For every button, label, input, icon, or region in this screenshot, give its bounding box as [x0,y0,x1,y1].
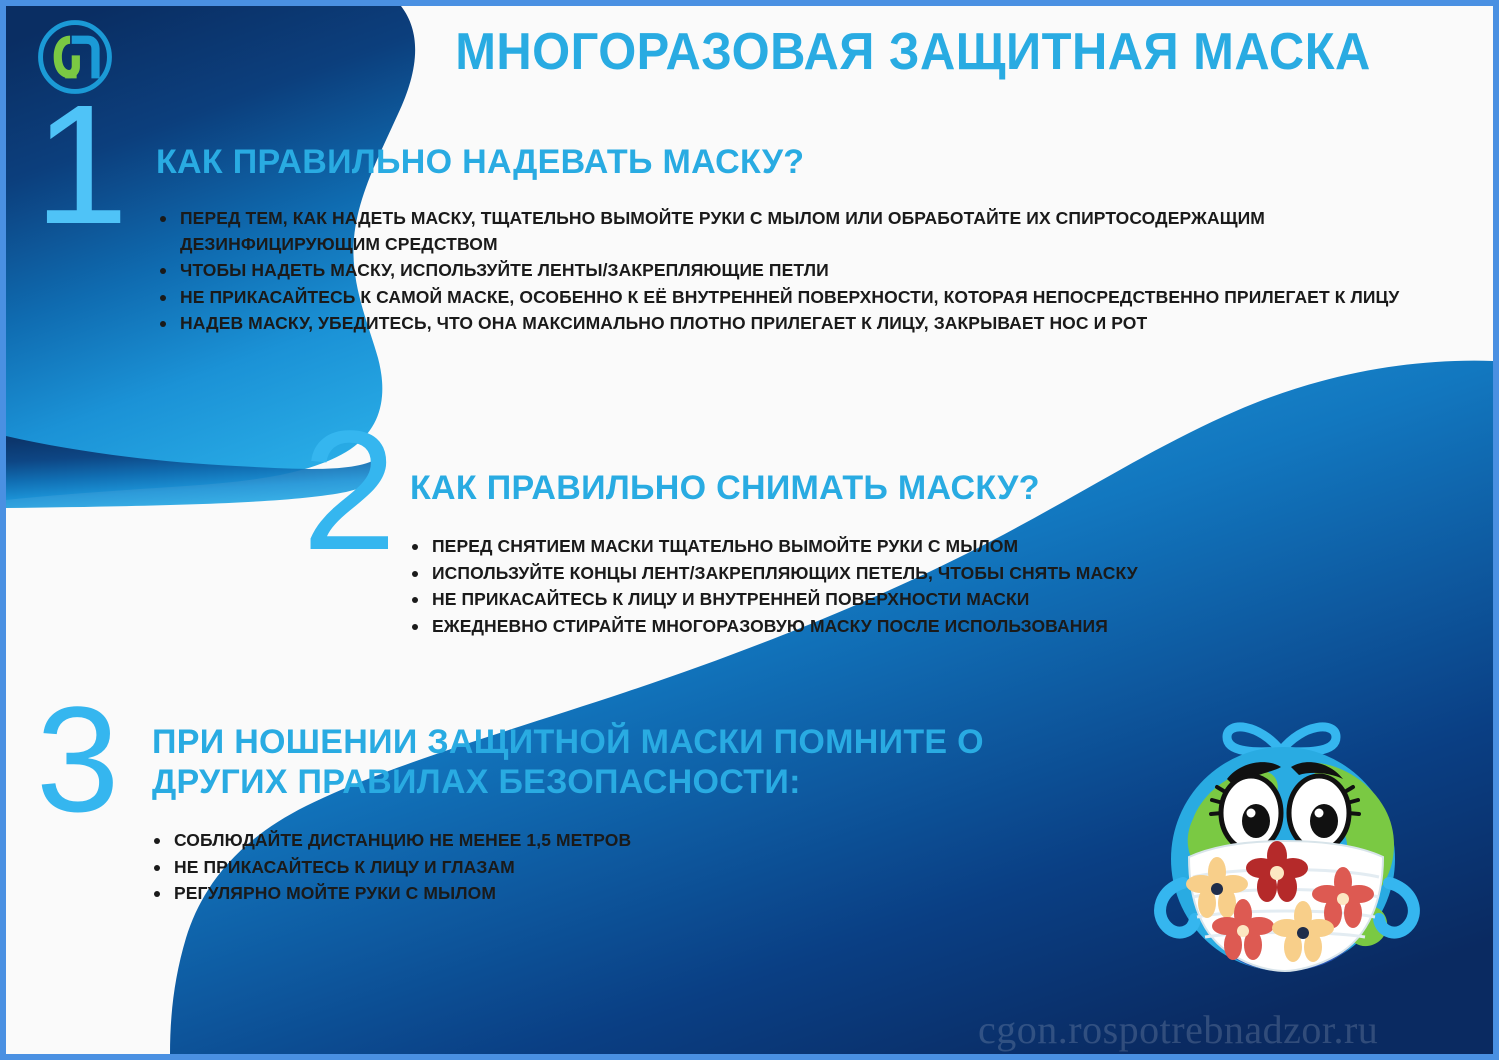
section-heading-3: ПРИ НОШЕНИИ ЗАЩИТНОЙ МАСКИ ПОМНИТЕ О ДРУ… [152,722,1052,802]
infographic-poster: МНОГОРАЗОВАЯ ЗАЩИТНАЯ МАСКА 1 КАК ПРАВИЛ… [0,0,1499,1060]
list-item: ПЕРЕД СНЯТИЕМ МАСКИ ТЩАТЕЛЬНО ВЫМОЙТЕ РУ… [406,534,1286,560]
step-number-3: 3 [36,684,119,834]
list-item: НЕ ПРИКАСАЙТЕСЬ К САМОЙ МАСКЕ, ОСОБЕННО … [154,285,1424,311]
section-heading-2: КАК ПРАВИЛЬНО СНИМАТЬ МАСКУ? [410,468,1040,508]
step-number-2: 2 [302,406,397,576]
list-item: ЧТОБЫ НАДЕТЬ МАСКУ, ИСПОЛЬЗУЙТЕ ЛЕНТЫ/ЗА… [154,258,1424,284]
list-item: РЕГУЛЯРНО МОЙТЕ РУКИ С МЫЛОМ [148,881,908,907]
list-item: ПЕРЕД ТЕМ, КАК НАДЕТЬ МАСКУ, ТЩАТЕЛЬНО В… [154,206,1424,257]
list-item: ЕЖЕДНЕВНО СТИРАЙТЕ МНОГОРАЗОВУЮ МАСКУ ПО… [406,614,1286,640]
list-item: ИСПОЛЬЗУЙТЕ КОНЦЫ ЛЕНТ/ЗАКРЕПЛЯЮЩИХ ПЕТЕ… [406,561,1286,587]
face-mask-icon [1186,841,1383,971]
section-2-bullet-list: ПЕРЕД СНЯТИЕМ МАСКИ ТЩАТЕЛЬНО ВЫМОЙТЕ РУ… [406,534,1286,640]
section-3-bullet-list: СОБЛЮДАЙТЕ ДИСТАНЦИЮ НЕ МЕНЕЕ 1,5 МЕТРОВ… [148,828,908,908]
site-watermark: cgon.rospotrebnadzor.ru [978,1006,1378,1053]
section-heading-1: КАК ПРАВИЛЬНО НАДЕВАТЬ МАСКУ? [156,142,804,182]
list-item: НАДЕВ МАСКУ, УБЕДИТЕСЬ, ЧТО ОНА МАКСИМАЛ… [154,311,1424,337]
list-item: НЕ ПРИКАСАЙТЕСЬ К ЛИЦУ И ГЛАЗАМ [148,855,908,881]
step-number-1: 1 [34,80,129,250]
section-1-bullet-list: ПЕРЕД ТЕМ, КАК НАДЕТЬ МАСКУ, ТЩАТЕЛЬНО В… [154,206,1424,338]
page-title: МНОГОРАЗОВАЯ ЗАЩИТНАЯ МАСКА [391,22,1434,82]
earth-globe-icon [1131,701,1441,986]
list-item: НЕ ПРИКАСАЙТЕСЬ К ЛИЦУ И ВНУТРЕННЕЙ ПОВЕ… [406,587,1286,613]
list-item: СОБЛЮДАЙТЕ ДИСТАНЦИЮ НЕ МЕНЕЕ 1,5 МЕТРОВ [148,828,908,854]
